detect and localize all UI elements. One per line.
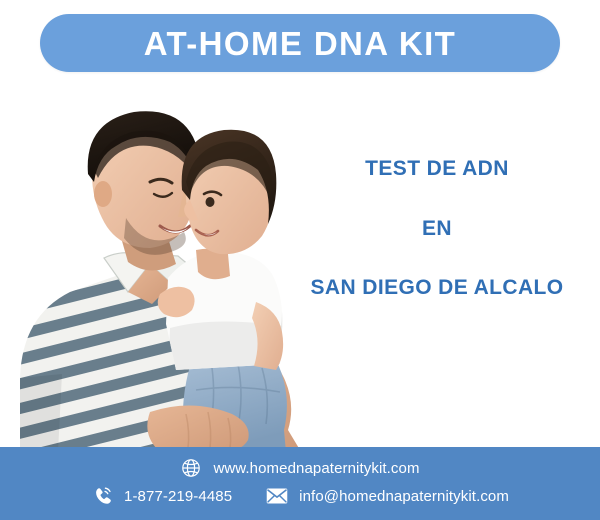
website-contact[interactable]: www.homednapaternitykit.com <box>180 457 419 479</box>
phone-text: 1-877-219-4485 <box>124 489 232 504</box>
email-text: info@homednapaternitykit.com <box>299 489 509 504</box>
phone-contact[interactable]: 1-877-219-4485 <box>91 485 232 507</box>
header-banner: AT-HOME DNA KIT <box>40 14 560 72</box>
email-contact[interactable]: info@homednapaternitykit.com <box>266 485 509 507</box>
headline-block: TEST DE ADN EN SAN DIEGO DE ALCALO <box>282 158 592 298</box>
family-photo <box>0 78 330 453</box>
globe-icon <box>180 457 202 479</box>
headline-line-2: EN <box>282 218 592 239</box>
phone-icon <box>91 485 113 507</box>
envelope-icon <box>266 485 288 507</box>
headline-line-1: TEST DE ADN <box>282 158 592 179</box>
footer-contact-bar: www.homednapaternitykit.com 1-877-219-44… <box>0 447 600 520</box>
footer-phone-email-row: 1-877-219-4485 info@homednapaternitykit.… <box>0 485 600 507</box>
family-photo-illustration <box>0 78 330 453</box>
footer-website-row: www.homednapaternitykit.com <box>0 457 600 479</box>
promotional-poster: AT-HOME DNA KIT <box>0 0 600 520</box>
website-text: www.homednapaternitykit.com <box>213 461 419 476</box>
headline-line-3: SAN DIEGO DE ALCALO <box>282 277 592 298</box>
page-title: AT-HOME DNA KIT <box>144 27 456 60</box>
